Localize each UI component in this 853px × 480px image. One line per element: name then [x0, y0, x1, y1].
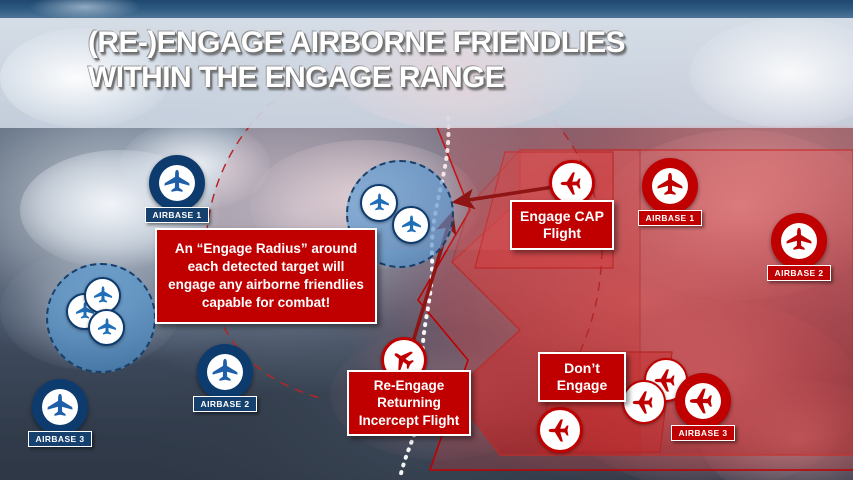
- airbase-marker-blue-2[interactable]: AIRBASE 2: [194, 344, 256, 412]
- fighter-jet-icon: [210, 357, 240, 387]
- top-sky-strip: [0, 0, 853, 18]
- fighter-jet-icon: [655, 171, 685, 201]
- airbase-inner-disc: [781, 223, 817, 259]
- airbase-label: AIRBASE 1: [638, 210, 703, 226]
- airbase-marker-blue-1[interactable]: AIRBASE 1: [146, 155, 208, 223]
- airbase-label: AIRBASE 3: [671, 425, 736, 441]
- fighter-jet-icon: [162, 168, 192, 198]
- fighter-jet-icon: [547, 417, 574, 444]
- airbase-inner-disc: [42, 389, 78, 425]
- airbase-inner-disc: [207, 354, 243, 390]
- airbase-label: AIRBASE 1: [145, 207, 210, 223]
- airbase-marker-red-2[interactable]: AIRBASE 2: [768, 213, 830, 281]
- airbase-inner-disc: [159, 165, 195, 201]
- fighter-jet-icon: [88, 309, 125, 346]
- airbase-circle: [771, 213, 827, 269]
- red-southern-flight-marker[interactable]: [537, 407, 583, 453]
- fighter-jet-icon: [688, 386, 718, 416]
- slide-canvas: (RE-)ENGAGE AIRBORNE FRIENDLIES WITHIN T…: [0, 0, 853, 480]
- blue-formation-left[interactable]: [46, 263, 156, 373]
- callout-dont-engage: Don’t Engage: [538, 352, 626, 402]
- callout-engage-radius: An “Engage Radius” around each detected …: [155, 228, 377, 324]
- airbase-marker-red-1[interactable]: AIRBASE 1: [639, 158, 701, 226]
- airbase-marker-blue-3[interactable]: AIRBASE 3: [29, 379, 91, 447]
- fighter-jet-icon: [45, 392, 75, 422]
- airbase-marker-red-3[interactable]: AIRBASE 3: [672, 373, 734, 441]
- airbase-label: AIRBASE 2: [767, 265, 832, 281]
- airbase-label: AIRBASE 3: [28, 431, 93, 447]
- airbase-circle: [642, 158, 698, 214]
- cloud-decoration: [30, 0, 140, 20]
- airbase-inner-disc: [652, 168, 688, 204]
- fighter-jet-icon: [622, 380, 666, 424]
- fighter-jet-icon: [360, 184, 398, 222]
- airbase-circle: [149, 155, 205, 211]
- airbase-circle: [32, 379, 88, 435]
- fighter-jet-icon: [392, 206, 430, 244]
- page-title: (RE-)ENGAGE AIRBORNE FRIENDLIES WITHIN T…: [88, 26, 808, 96]
- callout-engage-cap-flight: Engage CAP Flight: [510, 200, 614, 250]
- fighter-jet-icon: [784, 226, 814, 256]
- callout-re-engage-returning: Re-Engage Returning Incercept Flight: [347, 370, 471, 436]
- fighter-jet-icon: [559, 170, 586, 197]
- airbase-circle: [675, 373, 731, 429]
- airbase-inner-disc: [685, 383, 721, 419]
- airbase-label: AIRBASE 2: [193, 396, 258, 412]
- airbase-circle: [197, 344, 253, 400]
